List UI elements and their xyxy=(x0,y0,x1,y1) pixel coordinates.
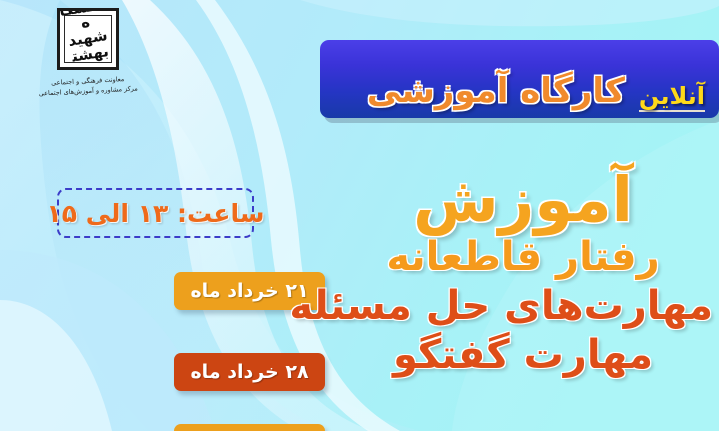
university-logo-block: دانشگاه شهید بهشتی معاونت فرهنگی و اجتما… xyxy=(18,8,158,96)
course-title-stack: آموزش رفتار قاطعانه مهارت‌های حل مسئله م… xyxy=(333,168,713,376)
course-topic-3: مهارت گفتگو xyxy=(333,335,713,376)
banner-content: آنلاین کارگاه آموزشی xyxy=(320,40,719,118)
date-pill: ۲۸ خرداد ماه xyxy=(174,353,325,391)
poster-canvas: دانشگاه شهید بهشتی معاونت فرهنگی و اجتما… xyxy=(0,0,719,431)
university-seal-icon: دانشگاه شهید بهشتی xyxy=(57,8,119,70)
workshop-banner: آنلاین کارگاه آموزشی xyxy=(320,40,719,118)
banner-subtitle-online: آنلاین xyxy=(639,84,705,112)
logo-caption: معاونت فرهنگی و اجتماعی مرکز مشاوره و آم… xyxy=(18,72,159,99)
date-pill-label: ۲۸ خرداد ماه xyxy=(190,361,308,383)
time-badge: ساعت: ۱۳ الی ۱۵ xyxy=(57,188,254,238)
course-title-main: آموزش xyxy=(333,168,713,231)
seal-calligraphy-text: دانشگاه شهید بهشتی xyxy=(57,8,119,70)
course-topic-2: مهارت‌های حل مسئله xyxy=(333,286,713,327)
time-badge-label: ساعت: ۱۳ الی ۱۵ xyxy=(47,199,265,228)
course-topic-1: رفتار قاطعانه xyxy=(333,237,713,278)
date-pill: ۴ تیر ماه xyxy=(174,424,325,431)
banner-title: کارگاه آموزشی xyxy=(367,74,625,108)
